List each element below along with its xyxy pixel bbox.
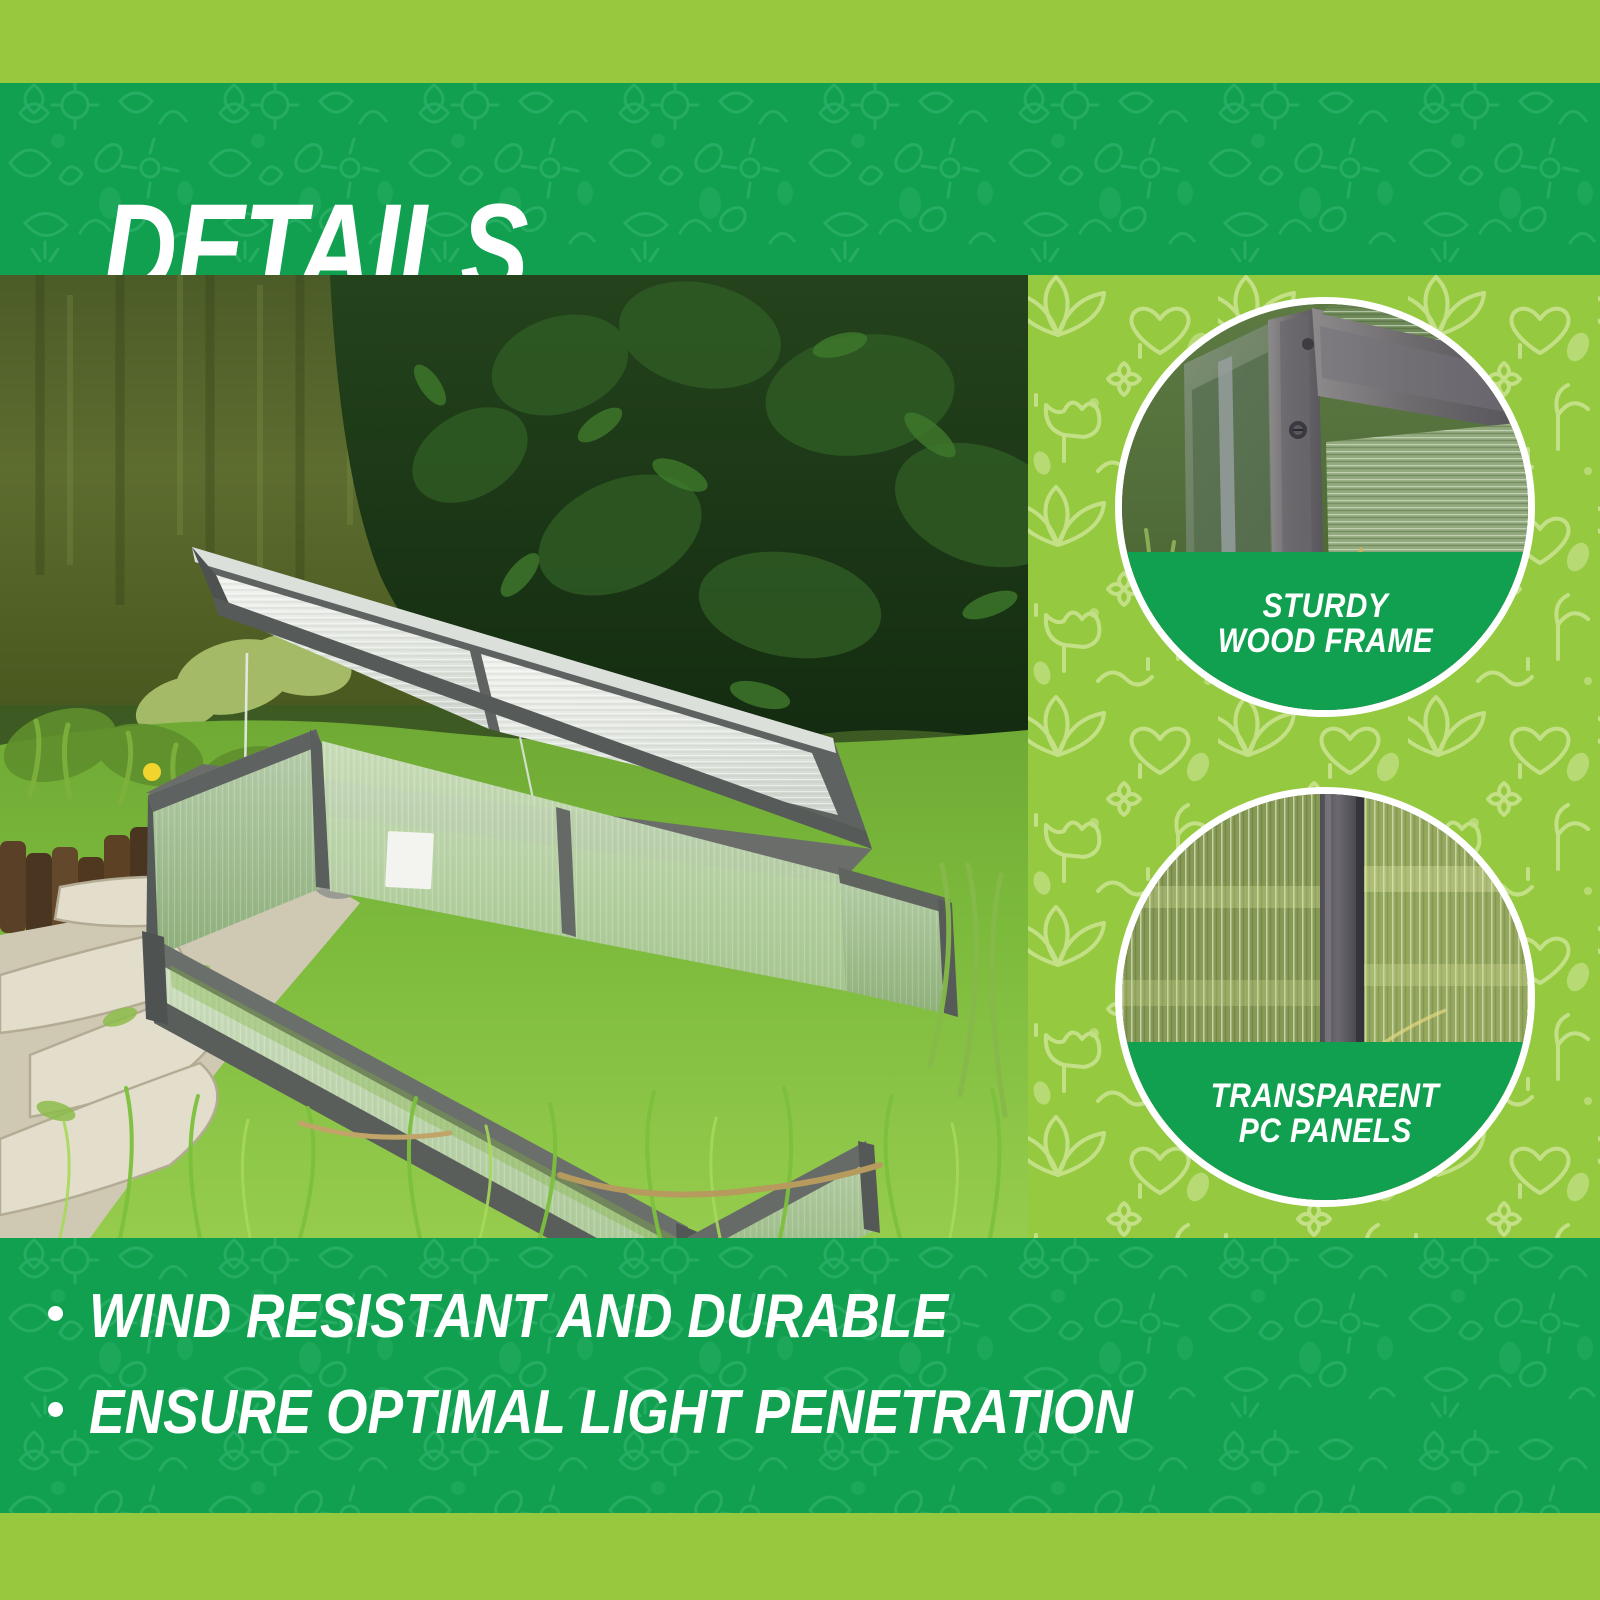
callout-transparent-pc-panels[interactable]: TRANSPARENT PC PANELS [1115, 787, 1535, 1207]
callout-1-label-line-2: WOOD FRAME [1217, 624, 1432, 659]
callout-2-label-line-1: TRANSPARENT [1211, 1079, 1440, 1114]
callout-1-label: STURDY WOOD FRAME [1122, 552, 1528, 710]
bullet-dot-icon [48, 1306, 63, 1321]
footer-banner: WIND RESISTANT AND DURABLE ENSURE OPTIMA… [0, 1238, 1600, 1513]
bullet-dot-icon [48, 1402, 63, 1417]
bullet-text-2: ENSURE OPTIMAL LIGHT PENETRATION [89, 1377, 1133, 1448]
callout-1-label-line-1: STURDY [1262, 589, 1388, 624]
list-item: WIND RESISTANT AND DURABLE [48, 1268, 1148, 1364]
list-item: ENSURE OPTIMAL LIGHT PENETRATION [48, 1364, 1148, 1460]
header-banner: DETAILS [0, 83, 1600, 275]
top-accent-strip [0, 0, 1600, 83]
callout-2-label-line-2: PC PANELS [1238, 1114, 1411, 1149]
feature-bullet-list: WIND RESISTANT AND DURABLE ENSURE OPTIMA… [48, 1268, 1148, 1460]
detail-callout-column: STURDY WOOD FRAME [1028, 275, 1600, 1238]
main-product-photo [0, 275, 1028, 1238]
callout-sturdy-wood-frame[interactable]: STURDY WOOD FRAME [1115, 297, 1535, 717]
bullet-text-1: WIND RESISTANT AND DURABLE [89, 1281, 948, 1352]
page-title: DETAILS [103, 186, 528, 275]
bottom-accent-strip [0, 1513, 1600, 1600]
callout-2-label: TRANSPARENT PC PANELS [1122, 1042, 1528, 1200]
